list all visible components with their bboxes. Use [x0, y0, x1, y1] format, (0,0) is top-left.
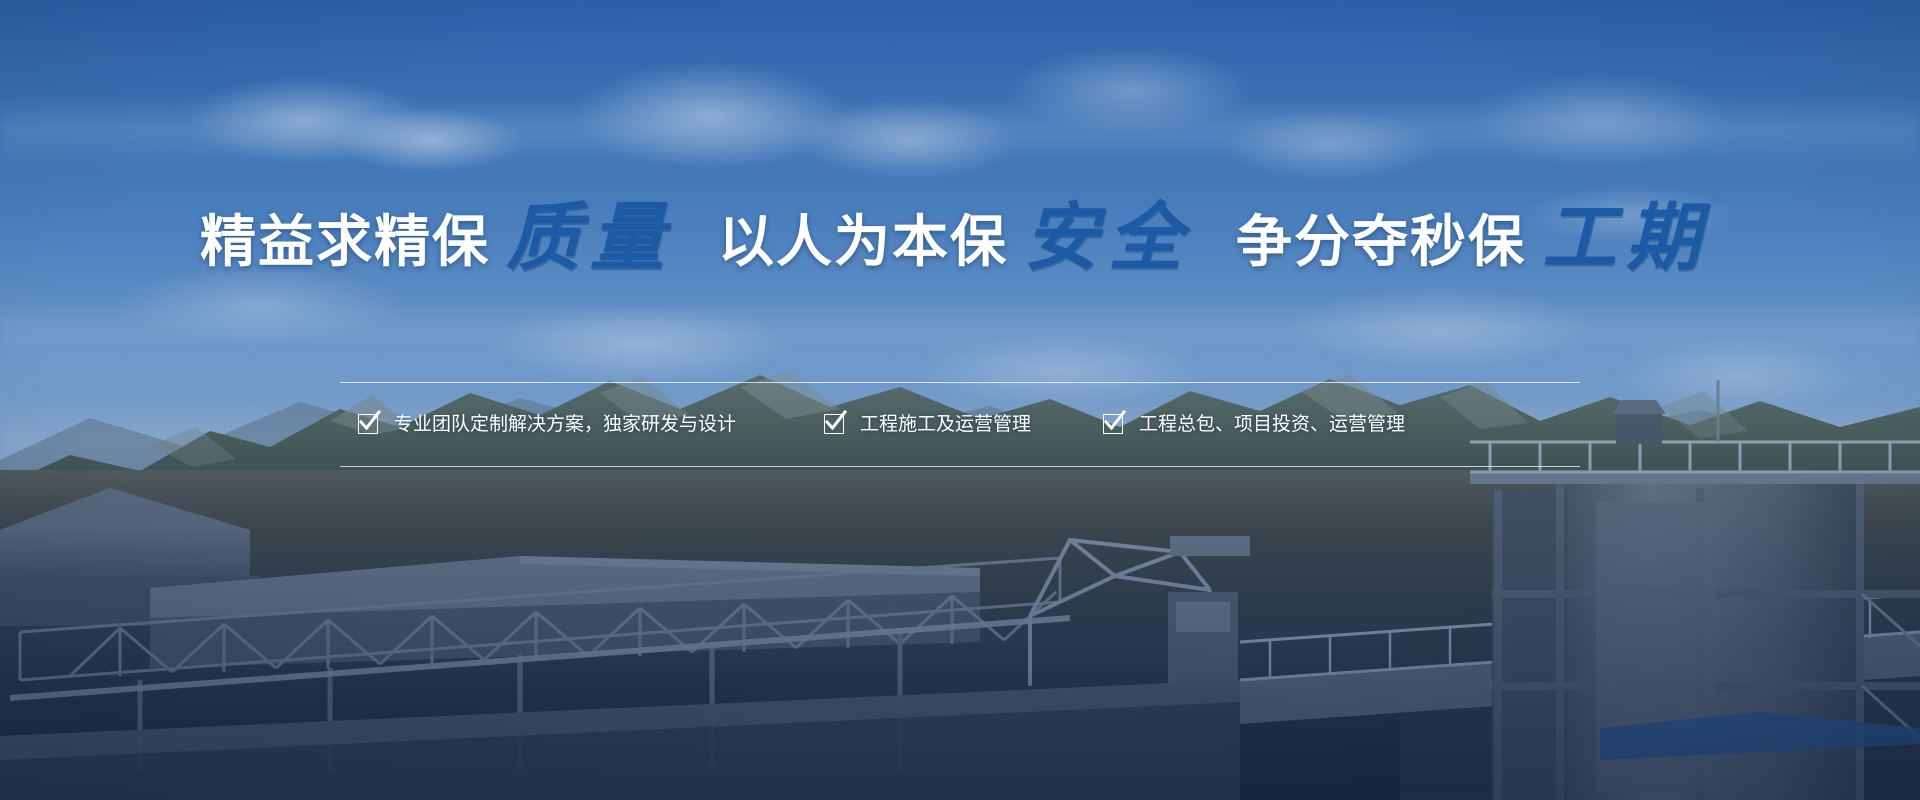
headline-brush-1: 质量 [506, 195, 674, 281]
headline-segment-3: 争分夺秒保工期 [1236, 205, 1720, 279]
hero-banner: 精益求精保质量 以人为本保安全 争分夺秒保工期 专业团队定制解决方案，独家研发与… [0, 0, 1920, 800]
headline-segment-2: 以人为本保安全 [718, 205, 1202, 279]
feature-item-solution[interactable]: 专业团队定制解决方案，独家研发与设计 [358, 414, 736, 434]
feature-label-construction: 工程施工及运营管理 [860, 415, 1031, 434]
headline-plain-3: 争分夺秒保 [1236, 210, 1526, 273]
headline-brush-2: 安全 [1024, 195, 1192, 281]
feature-item-construction[interactable]: 工程施工及运营管理 [824, 414, 1031, 434]
banner-headline: 精益求精保质量 以人为本保安全 争分夺秒保工期 [0, 205, 1920, 279]
checkbox-checked-icon [358, 414, 378, 434]
checkbox-checked-icon [824, 414, 844, 434]
feature-label-solution: 专业团队定制解决方案，独家研发与设计 [394, 415, 736, 434]
checkbox-checked-icon [1103, 414, 1123, 434]
feature-item-epc[interactable]: 工程总包、项目投资、运营管理 [1103, 414, 1405, 434]
headline-segment-1: 精益求精保质量 [200, 205, 684, 279]
headline-plain-1: 精益求精保 [200, 210, 490, 273]
headline-plain-2: 以人为本保 [718, 210, 1008, 273]
feature-label-epc: 工程总包、项目投资、运营管理 [1139, 415, 1405, 434]
headline-brush-3: 工期 [1542, 195, 1710, 281]
feature-list: 专业团队定制解决方案，独家研发与设计 工程施工及运营管理 工程总包、项目投资、运… [340, 402, 1580, 446]
